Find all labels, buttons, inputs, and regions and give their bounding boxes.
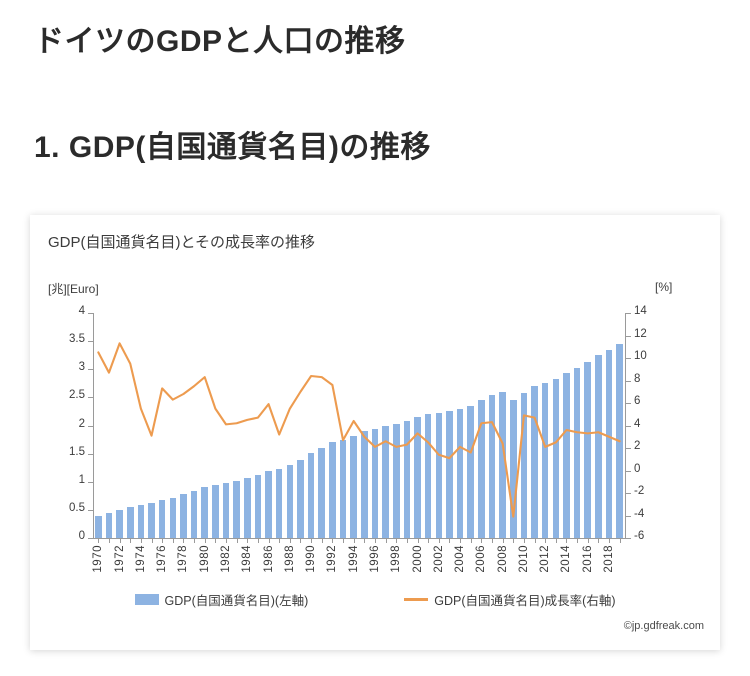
x-axis-tick-label: 1980 [199, 545, 211, 573]
legend-line-label: GDP(自国通貨名目)成長率(右軸) [434, 590, 615, 609]
x-axis-tick [449, 539, 450, 543]
x-axis-tick [524, 539, 525, 543]
y-axis-right-tick [626, 313, 631, 314]
x-axis-tick [205, 539, 206, 543]
x-axis-tick-label: 1976 [156, 545, 168, 573]
y-axis-right-tick-label: -6 [634, 531, 674, 543]
growth-rate-line-series [93, 313, 625, 538]
x-axis-tick [152, 539, 153, 543]
y-axis-right-tick-label: 8 [634, 374, 674, 386]
copyright-notice: ©jp.gdfreak.com [624, 620, 704, 632]
chart-card: GDP(自国通貨名目)とその成長率の推移 [兆][Euro] [%] 00.51… [30, 215, 720, 650]
x-axis-tick [375, 539, 376, 543]
x-axis-tick [428, 539, 429, 543]
x-axis-tick [194, 539, 195, 543]
x-axis-tick [396, 539, 397, 543]
chart-title: GDP(自国通貨名目)とその成長率の推移 [48, 231, 315, 252]
x-axis-tick-label: 2010 [518, 545, 530, 573]
x-axis-tick [300, 539, 301, 543]
y-axis-right-tick-label: -4 [634, 509, 674, 521]
y-axis-left-tick-label: 4 [45, 306, 85, 318]
x-axis-tick [279, 539, 280, 543]
x-axis-tick-label: 2002 [433, 545, 445, 573]
x-axis-tick-label: 1970 [92, 545, 104, 573]
x-axis-tick [173, 539, 174, 543]
y-axis-left-tick-label: 0 [45, 531, 85, 543]
x-axis-tick-label: 1986 [263, 545, 275, 573]
x-axis-tick [226, 539, 227, 543]
y-axis-left-tick-label: 2.5 [45, 390, 85, 402]
x-axis-tick [566, 539, 567, 543]
y-axis-left-tick-label: 3.5 [45, 334, 85, 346]
y-axis-right-tick-label: -2 [634, 486, 674, 498]
x-axis-tick-label: 2000 [412, 545, 424, 573]
legend-bar-swatch-icon [135, 594, 159, 605]
right-axis-unit-label: [%] [655, 280, 672, 294]
y-axis-right-tick-label: 12 [634, 329, 674, 341]
x-axis-tick [503, 539, 504, 543]
y-axis-right-tick [626, 381, 631, 382]
x-axis-tick [545, 539, 546, 543]
x-axis-tick [577, 539, 578, 543]
x-axis-tick-label: 2012 [539, 545, 551, 573]
y-axis-left-tick-label: 0.5 [45, 503, 85, 515]
x-axis-tick-label: 1984 [241, 545, 253, 573]
x-axis-tick-label: 1972 [114, 545, 126, 573]
y-axis-right-tick [626, 471, 631, 472]
x-axis-tick [322, 539, 323, 543]
x-axis-tick-label: 2006 [475, 545, 487, 573]
x-axis-tick-label: 1996 [369, 545, 381, 573]
x-axis-tick [609, 539, 610, 543]
x-axis-tick-label: 1992 [326, 545, 338, 573]
legend-item-growth-line: GDP(自国通貨名目)成長率(右軸) [404, 590, 615, 609]
x-axis-tick-label: 1978 [177, 545, 189, 573]
y-axis-right-tick [626, 516, 631, 517]
y-axis-left-tick [88, 538, 93, 539]
y-axis-left-tick-label: 1 [45, 475, 85, 487]
legend-line-swatch-icon [404, 598, 428, 601]
x-axis-tick [471, 539, 472, 543]
x-axis-tick [162, 539, 163, 543]
x-axis-tick [364, 539, 365, 543]
page-title: ドイツのGDPと人口の推移 [34, 16, 406, 60]
x-axis-tick-label: 1990 [305, 545, 317, 573]
x-axis-tick-label: 1994 [348, 545, 360, 573]
x-axis-tick-label: 1988 [284, 545, 296, 573]
x-axis-tick-label: 2004 [454, 545, 466, 573]
x-axis-tick [290, 539, 291, 543]
x-axis-tick [492, 539, 493, 543]
y-axis-left-tick-label: 1.5 [45, 447, 85, 459]
y-axis-right-tick [626, 358, 631, 359]
legend-item-gdp-bar: GDP(自国通貨名目)(左軸) [135, 590, 309, 609]
chart-legend: GDP(自国通貨名目)(左軸) GDP(自国通貨名目)成長率(右軸) [30, 590, 720, 609]
y-axis-right-tick-label: 10 [634, 351, 674, 363]
x-axis-tick [237, 539, 238, 543]
x-axis-tick [513, 539, 514, 543]
y-axis-right-tick [626, 426, 631, 427]
x-axis-tick-label: 2016 [582, 545, 594, 573]
x-axis-tick [588, 539, 589, 543]
x-axis-tick [183, 539, 184, 543]
x-axis-tick [215, 539, 216, 543]
plot-area [93, 313, 625, 538]
section-title: 1. GDP(自国通貨名目)の推移 [34, 122, 431, 166]
legend-bar-label: GDP(自国通貨名目)(左軸) [165, 590, 309, 609]
x-axis-tick [343, 539, 344, 543]
y-axis-right-tick-label: 2 [634, 441, 674, 453]
x-axis-tick [460, 539, 461, 543]
y-axis-right-tick [626, 448, 631, 449]
x-axis-tick [98, 539, 99, 543]
y-axis-right-tick [626, 493, 631, 494]
x-axis-tick [332, 539, 333, 543]
x-axis-tick [598, 539, 599, 543]
y-axis-right-tick [626, 336, 631, 337]
y-axis-right-tick-label: 4 [634, 419, 674, 431]
x-axis-tick-label: 1974 [135, 545, 147, 573]
x-axis-tick [439, 539, 440, 543]
x-axis-tick [386, 539, 387, 543]
x-axis-tick-label: 1998 [390, 545, 402, 573]
x-axis-tick [141, 539, 142, 543]
x-axis-tick [354, 539, 355, 543]
x-axis-tick-label: 1982 [220, 545, 232, 573]
x-axis-tick [620, 539, 621, 543]
y-axis-right-tick-label: 6 [634, 396, 674, 408]
x-axis-tick [481, 539, 482, 543]
x-axis-tick [311, 539, 312, 543]
x-axis-tick-label: 2018 [603, 545, 615, 573]
x-axis-tick [418, 539, 419, 543]
x-axis-tick-label: 2008 [497, 545, 509, 573]
x-axis-tick [130, 539, 131, 543]
x-axis-tick [535, 539, 536, 543]
x-axis-tick [109, 539, 110, 543]
y-axis-right-tick-label: 0 [634, 464, 674, 476]
x-axis-tick [120, 539, 121, 543]
y-axis-right-tick-label: 14 [634, 306, 674, 318]
y-axis-left-tick-label: 3 [45, 362, 85, 374]
y-axis-left-tick-label: 2 [45, 419, 85, 431]
x-axis-tick [556, 539, 557, 543]
y-axis-right-tick [626, 538, 631, 539]
x-axis-tick [407, 539, 408, 543]
x-axis-tick [269, 539, 270, 543]
y-axis-right-tick [626, 403, 631, 404]
x-axis-tick [258, 539, 259, 543]
left-axis-unit-label: [兆][Euro] [48, 280, 99, 297]
x-axis-tick-label: 2014 [560, 545, 572, 573]
x-axis-tick [247, 539, 248, 543]
